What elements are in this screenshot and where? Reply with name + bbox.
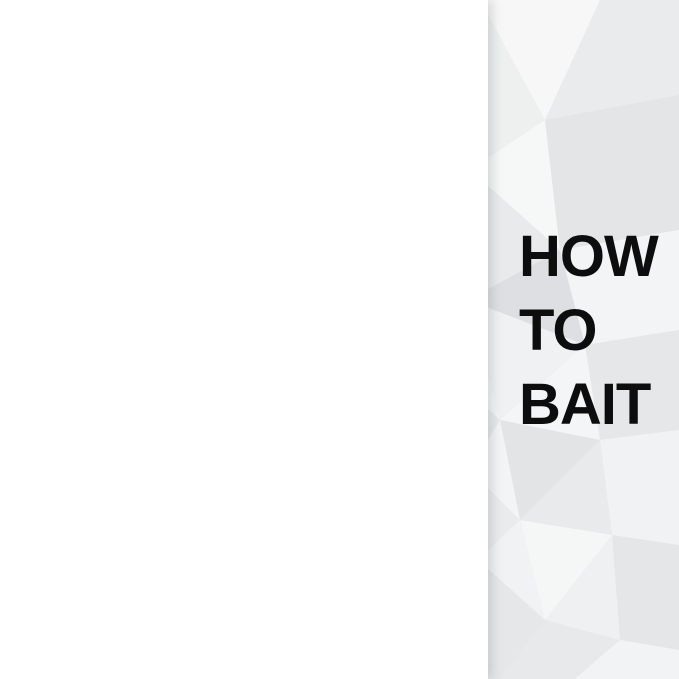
headline-line-to: TO [519,294,679,368]
headline-line-how: HOW [519,220,679,294]
headline-line-bait: BAIT [519,368,679,442]
content-card [0,0,488,679]
infographic-canvas: 1 Select a suitable bait for the animal … [0,0,679,679]
page-title: HOW TO BAIT [519,220,679,442]
